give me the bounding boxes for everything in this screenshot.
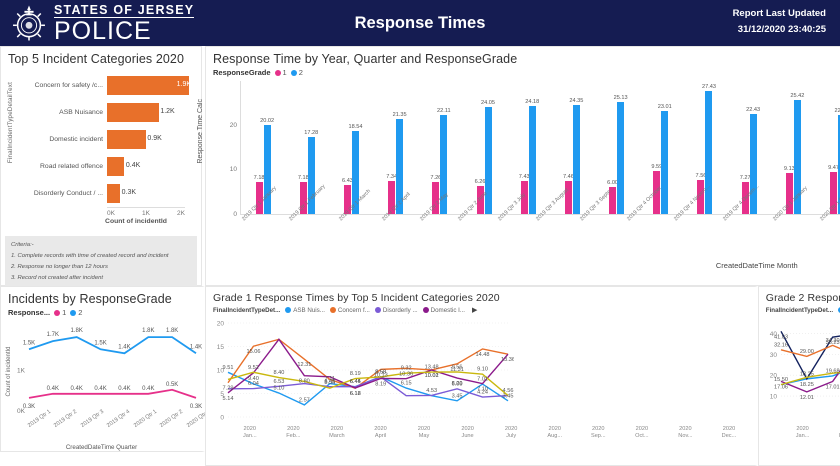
bar-row[interactable]: Disorderly Conduct / ...0.3K bbox=[23, 180, 193, 207]
line-series[interactable] bbox=[228, 339, 508, 392]
criteria-item: 3. Record not created after incident bbox=[11, 273, 191, 284]
bar-value-label: 24.18 bbox=[525, 99, 539, 105]
bar-value-label: 24.05 bbox=[481, 100, 495, 106]
grade2-title: Grade 2 Response Times by Top 5 Incident… bbox=[759, 287, 840, 306]
app-header: STATES OF JERSEY POLICE Response Times R… bbox=[0, 0, 840, 46]
data-label: 17.06 bbox=[774, 384, 788, 390]
y-tick: 15 bbox=[217, 344, 225, 351]
bar-chart-y-axis-title: FinalIncidentTypeDetailText bbox=[7, 82, 14, 163]
data-label: 1.5K bbox=[94, 340, 106, 346]
grade2-line-chart[interactable]: 1020304015.5018.2519.6822.4022.3418.0823… bbox=[759, 315, 840, 425]
bar-row[interactable]: Domestic incident0.9K bbox=[23, 126, 193, 153]
x-tick: 2020Dec... bbox=[707, 426, 751, 441]
x-tick: 2020Feb... bbox=[824, 426, 840, 441]
x-tick: 2020Jan... bbox=[781, 426, 825, 441]
data-label: 8.53 bbox=[375, 369, 386, 375]
y-tick: 10 bbox=[230, 166, 237, 173]
data-label: 17.01 bbox=[825, 384, 839, 390]
legend-label: Concern f... bbox=[338, 307, 370, 314]
data-label: 9.56 bbox=[452, 364, 463, 370]
data-label: 0.4K bbox=[118, 386, 130, 392]
response-time-legend: ResponseGrade 1 2 bbox=[206, 68, 840, 79]
data-label: 12.01 bbox=[800, 395, 814, 401]
x-tick: 2020Sep... bbox=[577, 426, 621, 441]
bottom-charts-row: Grade 1 Response Times by Top 5 Incident… bbox=[205, 286, 840, 466]
data-label: 1.8K bbox=[166, 328, 178, 334]
data-label: 6.15 bbox=[401, 381, 412, 387]
incidents-legend-label: Response... bbox=[8, 308, 50, 317]
data-label: 15.06 bbox=[246, 349, 260, 355]
legend-item[interactable]: Concern f... bbox=[330, 307, 370, 314]
data-label: 3.45 bbox=[452, 393, 463, 399]
data-label: 8.80 bbox=[299, 379, 310, 385]
x-tick: 2020May bbox=[402, 426, 446, 441]
data-label: 1.8K bbox=[142, 328, 154, 334]
line-series[interactable] bbox=[29, 337, 196, 353]
bar-value-label: 1.2K bbox=[160, 108, 174, 115]
bar-row[interactable]: Road related offence0.4K bbox=[23, 153, 193, 180]
y-axis-title: Count of incidentId bbox=[6, 346, 12, 396]
report-updated-label: Report Last Updated bbox=[733, 6, 826, 22]
data-label: 13.48 bbox=[425, 365, 439, 371]
criteria-list: 1. Complete records with time of created… bbox=[11, 251, 191, 284]
criteria-item: 2. Response no longer than 12 hours bbox=[11, 262, 191, 273]
bar-track: 0.3K bbox=[107, 184, 193, 203]
data-label: 15.50 bbox=[774, 377, 788, 383]
bar-fill[interactable] bbox=[107, 103, 159, 122]
legend-dot-icon bbox=[291, 70, 297, 76]
data-label: 13.36 bbox=[501, 357, 514, 363]
legend-item[interactable]: ASB Nuis... bbox=[285, 307, 325, 314]
legend-dot-icon bbox=[285, 307, 291, 313]
incidents-x-axis-title: CreatedDateTime Quarter bbox=[1, 444, 202, 451]
data-label: 0.3K bbox=[23, 404, 35, 410]
report-updated-block: Report Last Updated 31/12/2020 23:40:25 bbox=[733, 6, 826, 38]
data-label: 19.68 bbox=[825, 368, 839, 374]
dashboard-body: Top 5 Incident Categories 2020 FinalInci… bbox=[0, 46, 840, 466]
data-label: 10.01 bbox=[425, 373, 439, 379]
data-label: 18.25 bbox=[800, 371, 814, 377]
bar-chart-x-axis-title: Count of incidentId bbox=[79, 218, 193, 225]
data-label: 7.29 bbox=[223, 386, 234, 392]
data-label: 6.04 bbox=[248, 381, 259, 387]
grade1-line-chart[interactable]: 051015209.515.102.577.116.458.566.154.53… bbox=[206, 315, 514, 425]
data-label: 8.29 bbox=[452, 381, 463, 387]
y-tick: 10 bbox=[770, 394, 778, 401]
report-updated-value: 31/12/2020 23:40:25 bbox=[733, 22, 826, 38]
criteria-item: 1. Complete records with time of created… bbox=[11, 251, 191, 262]
data-label: 0.4K bbox=[47, 386, 59, 392]
bar-x-tick: 0K bbox=[107, 210, 115, 217]
x-tick: 2020June bbox=[446, 426, 490, 441]
legend-dot-icon bbox=[375, 307, 381, 313]
bar-value-label: 0.9K bbox=[147, 135, 161, 142]
grade1-title: Grade 1 Response Times by Top 5 Incident… bbox=[206, 287, 755, 306]
criteria-heading: Criteria:- bbox=[11, 240, 191, 251]
grade1-response-panel[interactable]: Grade 1 Response Times by Top 5 Incident… bbox=[205, 286, 758, 466]
police-crest-icon bbox=[10, 4, 48, 42]
bar-value-label: 20.02 bbox=[260, 118, 274, 124]
bar-track: 1.9K bbox=[107, 76, 193, 95]
x-tick: 2020July bbox=[489, 426, 533, 441]
grade2-legend[interactable]: FinalIncidentTypeDet...ASB Nuisa...ASB P… bbox=[759, 306, 840, 315]
x-tick: 2020April bbox=[359, 426, 403, 441]
right-column: Response Time by Year, Quarter and Respo… bbox=[205, 46, 840, 466]
bar-category-label: ASB Nuisance bbox=[23, 109, 107, 116]
bar-value-label: 18.54 bbox=[348, 124, 362, 130]
y-tick: 30 bbox=[770, 352, 778, 359]
legend-dot-icon bbox=[330, 307, 336, 313]
data-label: 0.3K bbox=[190, 404, 202, 410]
bar-fill[interactable] bbox=[107, 184, 120, 203]
data-label: 4.53 bbox=[426, 388, 437, 394]
response-time-x-axis-title: CreatedDateTime Month bbox=[206, 261, 840, 270]
incidents-legend-item-1[interactable]: 1 bbox=[54, 308, 66, 317]
legend-item[interactable]: Disorderly ... bbox=[375, 307, 418, 314]
data-label: 41.03 bbox=[774, 334, 788, 340]
bar-value-label: 25.42 bbox=[790, 93, 804, 99]
bar-fill[interactable] bbox=[107, 130, 146, 149]
legend-text: 1 bbox=[62, 308, 66, 317]
bar-category-label: Concern for safety /c... bbox=[23, 82, 107, 89]
data-label: 5.10 bbox=[273, 386, 284, 392]
data-label: 34.30 bbox=[825, 338, 839, 344]
legend-text: 2 bbox=[78, 308, 82, 317]
bar-rows: Concern for safety /c...1.9KASB Nuisance… bbox=[23, 72, 193, 207]
data-label: 9.51 bbox=[223, 365, 234, 371]
response-time-legend-label: ResponseGrade bbox=[213, 68, 271, 77]
response-time-legend-item-1[interactable]: 1 bbox=[275, 68, 287, 77]
legend-title: FinalIncidentTypeDet... bbox=[766, 307, 833, 314]
legend-item[interactable]: Domestic I... bbox=[423, 307, 465, 314]
legend-dot-icon bbox=[423, 307, 429, 313]
response-time-legend-item-2[interactable]: 2 bbox=[291, 68, 303, 77]
bar-value-label: 0.4K bbox=[126, 162, 140, 169]
data-label: 1.4K bbox=[118, 344, 130, 350]
incidents-by-responsegrade-title: Incidents by ResponseGrade bbox=[1, 287, 202, 308]
bar-value-label: 1.9K bbox=[177, 81, 191, 88]
bar-track: 0.9K bbox=[107, 130, 193, 149]
bar-value-label: 27.43 bbox=[702, 84, 716, 90]
data-label: 1.7K bbox=[47, 332, 59, 338]
data-label: 3.45 bbox=[503, 393, 514, 399]
data-label: 14.48 bbox=[476, 352, 490, 358]
data-label: 10.36 bbox=[399, 371, 413, 377]
y-tick: 0 bbox=[220, 415, 224, 422]
response-time-y-axis: 01020 bbox=[209, 81, 239, 215]
left-column: Top 5 Incident Categories 2020 FinalInci… bbox=[0, 46, 205, 466]
data-label: 18.25 bbox=[800, 382, 814, 388]
bar-category-label: Disorderly Conduct / ... bbox=[23, 190, 107, 197]
bar-category-label: Domestic incident bbox=[23, 136, 107, 143]
data-label: 6.53 bbox=[273, 379, 284, 385]
bar-x-tick: 2K bbox=[177, 210, 185, 217]
incidents-legend: Response... 1 2 bbox=[1, 308, 202, 319]
legend-dot-icon bbox=[54, 310, 60, 316]
bar-track: 0.4K bbox=[107, 157, 193, 176]
y-tick: 1K bbox=[17, 368, 26, 375]
incidents-by-responsegrade-panel[interactable]: Incidents by ResponseGrade Response... 1… bbox=[0, 286, 205, 452]
legend-text: 1 bbox=[283, 68, 287, 77]
grade1-legend[interactable]: FinalIncidentTypeDet...ASB Nuis...Concer… bbox=[206, 306, 755, 315]
bar-x-tick: 1K bbox=[142, 210, 150, 217]
org-logo-text: STATES OF JERSEY POLICE bbox=[54, 2, 194, 45]
org-name-line1: STATES OF JERSEY bbox=[54, 4, 194, 19]
grade2-response-panel[interactable]: Grade 2 Response Times by Top 5 Incident… bbox=[758, 286, 840, 466]
x-tick: 2020March bbox=[315, 426, 359, 441]
bar-value-label: 22.08 bbox=[835, 108, 840, 114]
data-label: 8.40 bbox=[273, 370, 284, 376]
bar-row[interactable]: ASB Nuisance1.2K bbox=[23, 99, 193, 126]
x-tick: 2020Feb... bbox=[272, 426, 316, 441]
legend-label: Domestic I... bbox=[431, 307, 465, 314]
x-tick: 2020Jan... bbox=[228, 426, 272, 441]
data-label: 7.01 bbox=[477, 377, 488, 383]
grade1-x-axis: 2020Jan...2020Feb...2020March2020April20… bbox=[228, 426, 751, 441]
bar-category-label: Road related offence bbox=[23, 163, 107, 170]
response-time-panel[interactable]: Response Time by Year, Quarter and Respo… bbox=[205, 46, 840, 286]
bar-value-label: 25.13 bbox=[614, 95, 628, 101]
y-tick: 20 bbox=[230, 122, 237, 129]
top-incident-categories-panel[interactable]: Top 5 Incident Categories 2020 FinalInci… bbox=[0, 46, 202, 286]
incidents-line-chart[interactable]: 0K1KCount of incidentId0.3K0.4K0.4K0.4K0… bbox=[1, 319, 204, 424]
data-label: 6.18 bbox=[350, 391, 361, 397]
bar-value-label: 22.43 bbox=[746, 107, 760, 113]
legend-dot-icon bbox=[70, 310, 76, 316]
data-label: 9.52 bbox=[248, 365, 259, 371]
bar-value-label: 24.35 bbox=[569, 98, 583, 104]
data-label: 1.5K bbox=[23, 340, 35, 346]
data-label: 0.5K bbox=[166, 382, 178, 388]
data-label: 29.00 bbox=[800, 349, 814, 355]
incidents-legend-item-2[interactable]: 2 bbox=[70, 308, 82, 317]
legend-label: ASB Nuis... bbox=[293, 307, 325, 314]
vertical-bar[interactable]: 24.18 bbox=[529, 106, 536, 214]
legend-dot-icon bbox=[275, 70, 281, 76]
bar-track: 1.2K bbox=[107, 103, 193, 122]
x-tick: 2020Aug... bbox=[533, 426, 577, 441]
data-label: 32.16 bbox=[774, 342, 788, 348]
data-label: 8.19 bbox=[350, 371, 361, 377]
x-tick: 2020Nov... bbox=[664, 426, 708, 441]
bar-value-label: 22.11 bbox=[437, 108, 451, 114]
legend-label: Disorderly ... bbox=[383, 307, 418, 314]
top-incident-categories-title: Top 5 Incident Categories 2020 bbox=[1, 47, 201, 68]
data-label: 4.56 bbox=[503, 388, 514, 394]
y-tick: 20 bbox=[217, 321, 225, 328]
bar-value-label: 17.28 bbox=[304, 130, 318, 136]
bar-fill[interactable] bbox=[107, 157, 124, 176]
bar-value-label: 23.01 bbox=[658, 104, 672, 110]
incidents-x-axis: 2019 Qtr 12019 Qtr 22019 Qtr 32019 Qtr 4… bbox=[27, 424, 198, 430]
data-label: 0.4K bbox=[71, 386, 83, 392]
data-label: 5.14 bbox=[223, 396, 234, 402]
org-name-line2: POLICE bbox=[54, 19, 194, 44]
data-label: 9.10 bbox=[477, 367, 488, 373]
bar-chart-x-axis: 0K1K2K bbox=[107, 207, 185, 217]
bar-value-label: 21.35 bbox=[393, 112, 407, 118]
data-label: 1.8K bbox=[71, 328, 83, 334]
grade2-x-axis: 2020Jan...2020Feb...2020March2020April20… bbox=[781, 426, 840, 441]
y-tick: 0 bbox=[233, 211, 237, 218]
data-label: 12.31 bbox=[297, 362, 311, 368]
data-label: 1.4K bbox=[190, 344, 202, 350]
data-label: 6.44 bbox=[350, 379, 361, 385]
bar-value-label: 0.3K bbox=[122, 189, 136, 196]
legend-text: 2 bbox=[299, 68, 303, 77]
data-label: 7.10 bbox=[477, 387, 488, 393]
data-label: 9.32 bbox=[401, 366, 412, 372]
data-label: 8.19 bbox=[375, 382, 386, 388]
data-label: 2.57 bbox=[299, 397, 310, 403]
legend-title: FinalIncidentTypeDet... bbox=[213, 307, 280, 314]
data-label: 0.4K bbox=[94, 386, 106, 392]
data-label: 0.4K bbox=[142, 386, 154, 392]
data-label: 9.40 bbox=[248, 376, 259, 382]
data-label: 8.56 bbox=[324, 380, 335, 386]
legend-next-arrow-icon[interactable]: ▶ bbox=[472, 306, 477, 314]
response-time-y-axis-title: Response Time Calc bbox=[197, 99, 204, 164]
response-time-title: Response Time by Year, Quarter and Respo… bbox=[206, 47, 840, 68]
x-tick: 2020Oct... bbox=[620, 426, 664, 441]
top-incident-categories-chart[interactable]: FinalIncidentTypeDetailText Concern for … bbox=[9, 72, 193, 230]
bar-row[interactable]: Concern for safety /c...1.9K bbox=[23, 72, 193, 99]
response-time-x-axis: 2019 Qtr 1 January2019 Qtr 1 February201… bbox=[240, 215, 840, 267]
